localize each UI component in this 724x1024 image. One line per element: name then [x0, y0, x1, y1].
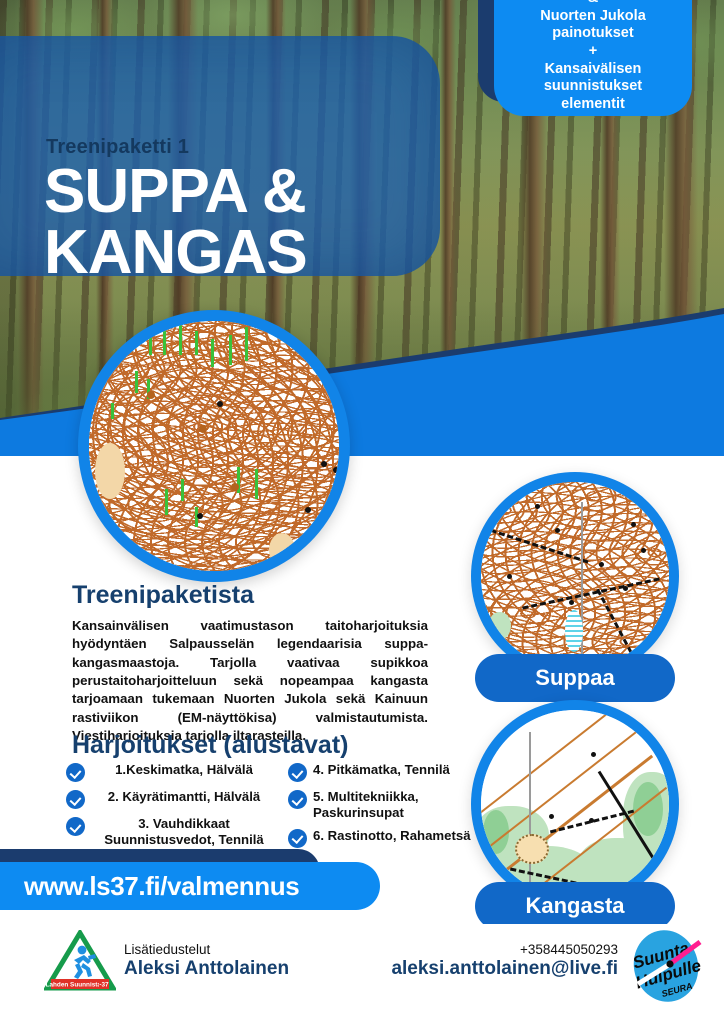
rock-symbol — [507, 574, 512, 579]
kicker-text: Treenipaketti 1 — [46, 136, 189, 159]
vegetation-line — [195, 331, 198, 355]
rock-symbol — [591, 752, 596, 757]
exercise-label: 1.Keskimatka, Hälvälä — [91, 762, 277, 778]
title-line-2: KANGAS — [44, 223, 444, 284]
contact-name: Aleksi Anttolainen — [124, 958, 289, 980]
kangas-label-pill: Kangasta — [475, 882, 675, 930]
check-circle-icon — [66, 790, 85, 809]
rock-symbol — [321, 461, 327, 467]
boulder-symbol — [231, 483, 239, 491]
kangas-map-image — [481, 710, 669, 898]
contact-email[interactable]: aleksi.anttolainen@live.fi — [300, 958, 618, 980]
lahden-suunnistajat-logo: Lahden Suunnistajat -37 — [44, 930, 116, 996]
vegetation-line — [211, 339, 214, 367]
exercises-heading: Harjoitukset (alustavat) — [72, 731, 348, 760]
vegetation-line — [229, 335, 232, 365]
rock-symbol — [555, 528, 560, 533]
check-circle-icon — [288, 829, 307, 848]
check-circle-icon — [288, 763, 307, 782]
list-item: 6. Rastinotto, Rahametsä — [288, 828, 478, 848]
kangas-map-circle — [471, 700, 679, 908]
marsh-symbol — [565, 610, 583, 652]
badge-text: Kainuun rastiviikko & Nuorten Jukola pai… — [520, 0, 666, 114]
list-item: 3. Vauhdikkaat Suunnistusvedot, Tennilä — [66, 816, 282, 848]
check-circle-icon — [66, 817, 85, 836]
main-map-image — [89, 321, 339, 571]
rock-symbol — [333, 467, 339, 473]
suunta-huipulle-logo: Suunta Huipulle SEURA — [626, 926, 706, 1006]
rock-symbol — [305, 507, 311, 513]
badge-blue-panel: Kainuun rastiviikko & Nuorten Jukola pai… — [494, 0, 692, 116]
vegetation-line — [245, 327, 248, 361]
contact-phone[interactable]: +358445050293 — [300, 942, 618, 957]
boulder-symbol — [199, 425, 207, 433]
title-line-1: SUPPA & — [44, 162, 444, 223]
contact-label: Lisätiedustelut — [124, 942, 210, 957]
marsh-area — [95, 443, 125, 499]
vegetation-line — [181, 479, 184, 501]
boulder-symbol — [147, 391, 155, 399]
vegetation-line — [165, 489, 168, 515]
list-item: 2. Käyrätimantti, Hälvälä — [66, 789, 282, 809]
rock-symbol — [569, 600, 574, 605]
map-card-kangas: Kangasta — [462, 700, 688, 930]
rock-symbol — [623, 586, 628, 591]
rock-symbol — [535, 504, 540, 509]
suppa-label-pill: Suppaa — [475, 654, 675, 702]
suppa-map-image — [481, 482, 669, 670]
about-heading: Treenipaketista — [72, 581, 254, 610]
rock-symbol — [217, 401, 223, 407]
vegetation-line — [255, 469, 258, 499]
page-title: SUPPA & KANGAS — [44, 162, 444, 284]
vegetation-line — [163, 329, 166, 355]
vegetation-line — [111, 403, 114, 419]
suppa-map-circle — [471, 472, 679, 680]
rock-symbol — [197, 513, 203, 519]
rock-symbol — [549, 814, 554, 819]
rock-symbol — [641, 548, 646, 553]
exercise-label: 4. Pitkämatka, Tennilä — [313, 762, 450, 778]
footer: Lahden Suunnistajat -37 Lisätiedustelut … — [0, 924, 724, 1024]
website-url[interactable]: www.ls37.fi/valmennus — [24, 871, 299, 902]
map-card-suppa: Suppaa — [462, 472, 688, 702]
vegetation-line — [149, 325, 152, 355]
vegetation-line — [179, 323, 182, 355]
list-item: 4. Pitkämatka, Tennilä — [288, 762, 478, 782]
title-panel: Treenipaketti 1 SUPPA & KANGAS — [0, 36, 440, 276]
about-body: Kansainvälisen vaatimustason taitoharjoi… — [72, 617, 428, 745]
list-item: 1.Keskimatka, Hälvälä — [66, 762, 282, 782]
exercise-label: 6. Rastinotto, Rahametsä — [313, 828, 471, 844]
rock-symbol — [589, 818, 594, 823]
highlight-badge: Kainuun rastiviikko & Nuorten Jukola pai… — [478, 0, 708, 132]
powerline — [581, 502, 583, 670]
url-banner[interactable]: www.ls37.fi/valmennus — [0, 862, 380, 910]
sandpit-symbol — [515, 834, 549, 864]
suppa-label-text: Suppaa — [535, 665, 614, 691]
check-circle-icon — [288, 790, 307, 809]
exercise-label: 2. Käyrätimantti, Hälvälä — [91, 789, 277, 805]
exercise-label: 5. Multitekniikka, Paskurinsupat — [313, 789, 478, 821]
rock-symbol — [631, 522, 636, 527]
rock-symbol — [599, 562, 604, 567]
vegetation-line — [135, 371, 138, 393]
check-circle-icon — [66, 763, 85, 782]
exercises-left-column: 1.Keskimatka, Hälvälä 2. Käyrätimantti, … — [66, 762, 282, 855]
list-item: 5. Multitekniikka, Paskurinsupat — [288, 789, 478, 821]
contour-lines — [89, 321, 339, 571]
exercises-right-column: 4. Pitkämatka, Tennilä 5. Multitekniikka… — [288, 762, 478, 855]
kangas-label-text: Kangasta — [525, 893, 624, 919]
exercise-label: 3. Vauhdikkaat Suunnistusvedot, Tennilä — [91, 816, 277, 848]
marsh-area — [269, 533, 295, 567]
poster-root: Treenipaketti 1 SUPPA & KANGAS Kainuun r… — [0, 0, 724, 1024]
club-logo-number: -37 — [99, 982, 109, 989]
main-map-circle — [78, 310, 350, 582]
